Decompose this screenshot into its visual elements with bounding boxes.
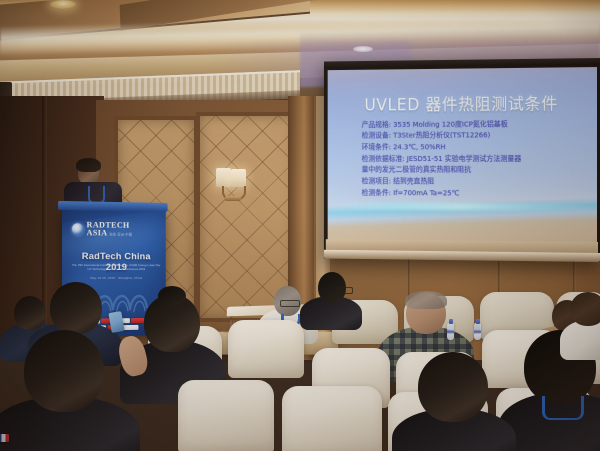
slide-bullet: 检测条件: If=700mA Ta=25℃ <box>362 187 581 199</box>
water-bottle <box>474 323 481 340</box>
hair-bun <box>158 286 186 306</box>
slide-bullet: 检测项目: 结到壳直热阻 <box>362 176 581 188</box>
podium-top-edge <box>58 201 168 212</box>
person-head <box>418 352 488 422</box>
sunglasses <box>280 300 300 307</box>
lanyard <box>542 396 584 420</box>
flag-pin <box>0 434 9 442</box>
water-bottle <box>447 323 454 340</box>
audience-member <box>560 292 600 356</box>
slide-bullet: 产品规格: 3535 Molding 120度ICP氮化铝基板 <box>362 118 581 130</box>
chair <box>178 380 274 451</box>
podium-subline: The 15th International Conference & Expo… <box>72 263 160 272</box>
slide-title: UVLED 器件热阻测试条件 <box>328 90 597 116</box>
slide-bullet: 量中的发光二极管的真实热阻和阻抗 <box>362 164 581 176</box>
slide-bullet-list: 产品规格: 3535 Molding 120度ICP氮化铝基板 检测设备: T3… <box>362 118 581 199</box>
radtech-logo-line2: ASIA <box>87 230 108 239</box>
radtech-logo: RADTECH ASIA 协会·亚洲·中国 <box>72 221 132 238</box>
sconce-shade <box>231 169 246 187</box>
projection-screen: UVLED 器件热阻测试条件 产品规格: 3535 Molding 120度IC… <box>324 58 600 262</box>
slide-bullet: 检测设备: T3Ster热阻分析仪(TST12266) <box>362 129 581 141</box>
person-head <box>570 292 600 326</box>
person-hair <box>405 291 447 309</box>
recessed-downlight <box>353 46 373 52</box>
wall-sconce <box>216 168 252 202</box>
sconce-backplate <box>225 196 241 201</box>
person-head <box>24 330 104 412</box>
ceiling-lamp <box>50 0 76 9</box>
chair <box>282 386 382 451</box>
screen-light-streak <box>328 202 597 210</box>
podium-date-line: May 13-15, 2019 · Shanghai, China <box>72 276 160 280</box>
conference-room-photo: UVLED 器件热阻测试条件 产品规格: 3535 Molding 120度IC… <box>0 0 600 451</box>
sconce-shade <box>216 168 231 187</box>
slide-bullet: 检测依据标准: JESD51-51 实验电学测试方法测量器 <box>362 153 581 165</box>
audience-member <box>392 352 516 451</box>
chair <box>228 320 304 378</box>
person-head <box>50 282 102 334</box>
eyeglasses <box>336 287 353 294</box>
audience-member <box>300 272 362 328</box>
slide-bullet: 环境条件: 24.3℃, 50%RH <box>362 141 581 153</box>
radtech-logo-mark <box>72 224 84 236</box>
radtech-logo-subtext: 协会·亚洲·中国 <box>109 234 132 237</box>
screen-surface: UVLED 器件热阻测试条件 产品规格: 3535 Molding 120度IC… <box>328 67 597 242</box>
presenter-hair <box>76 158 101 172</box>
person-torso <box>560 320 600 360</box>
